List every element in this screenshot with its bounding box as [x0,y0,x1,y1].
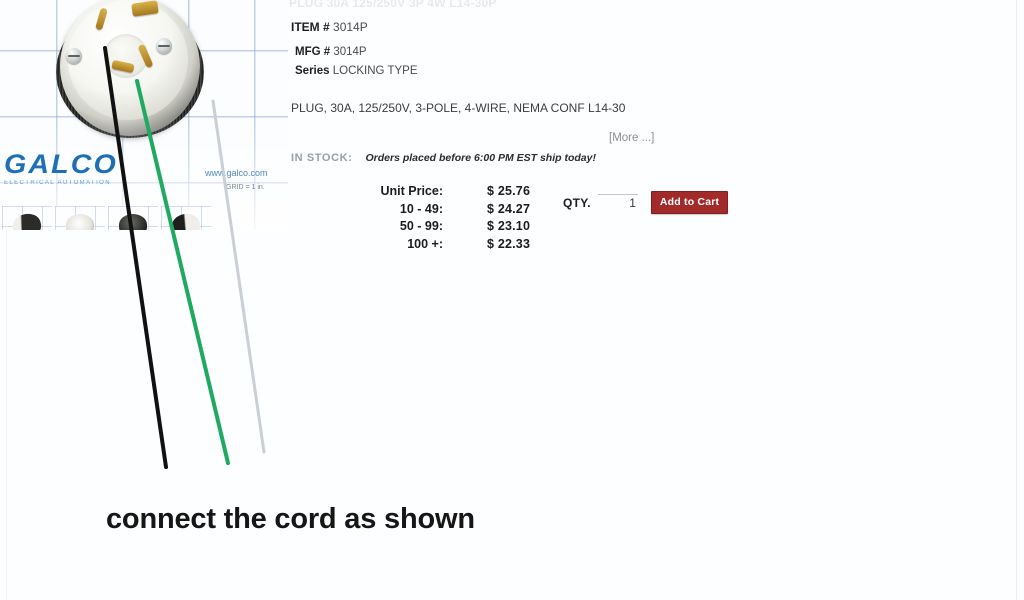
page-right-border [1016,0,1017,600]
product-photo: 30A 125/250V GALCO ELECTRICAL AUTOMATION… [0,0,288,230]
series-value: LOCKING TYPE [333,65,418,77]
add-to-cart-button[interactable]: Add to Cart [651,191,728,214]
mfg-number-row: MFG # 3014P [295,46,367,58]
item-number-label: ITEM # [291,20,330,34]
item-number-value: 3014P [333,20,368,34]
order-controls: QTY. Add to Cart [563,191,728,214]
galco-logo-wordmark: GALCO [4,151,118,178]
galco-logo: GALCO ELECTRICAL AUTOMATION [4,151,112,186]
series-row: Series LOCKING TYPE [295,65,418,77]
price-tier-label: 100 +: [335,236,443,254]
price-tier-label: 50 - 99: [335,218,443,236]
price-tier-amount: $ 24.27 [443,201,530,219]
thumbnail-plug-icon [119,214,147,230]
item-number-row: ITEM # 3014P [291,20,368,34]
mfg-number-label: MFG # [295,46,330,58]
price-tier-amount: $ 23.10 [443,218,530,236]
price-tier-label: Unit Price: [335,183,443,201]
plug-screw-icon [66,48,82,64]
stock-status-badge: IN STOCK: [291,152,352,164]
thumbnail-angle-2[interactable]: L14-30P1.0 in [55,206,105,230]
thumbnail-angle-3[interactable]: L14-30P1.0 in [108,206,158,230]
thumbnail-angle-4[interactable]: L14-30P1.0 in [161,206,211,230]
stock-status-row: IN STOCK: Orders placed before 6:00 PM E… [291,152,596,164]
thumbnail-strip[interactable]: L14-30P1.0 in L14-30P1.0 in L14-30P1.0 i… [2,206,212,230]
stock-ship-message: Orders placed before 6:00 PM EST ship to… [365,152,595,164]
price-tier-row: 50 - 99:$ 23.10 [335,218,530,236]
quantity-label: QTY. [563,196,591,210]
galco-website-text: www.galco.com [205,168,268,178]
thumbnail-angle-1[interactable]: L14-30P1.0 in [2,206,52,230]
quantity-input[interactable] [598,194,638,211]
plug-screw-icon [156,38,172,54]
page-bottom-area [7,548,1016,600]
series-label: Series [295,65,330,77]
grid-scale-note: GRID = 1 in. [226,184,265,191]
price-tier-row: 10 - 49:$ 24.27 [335,201,530,219]
price-tier-row: 100 +:$ 22.33 [335,236,530,254]
faded-page-title: PLUG 30A 125/250V 3P 4W L14-30P [289,0,497,10]
thumbnail-plug-icon [66,214,94,230]
mfg-number-value: 3014P [333,46,366,58]
more-link[interactable]: [More ...] [609,132,654,144]
price-tier-row: Unit Price:$ 25.76 [335,183,530,201]
price-tier-label: 10 - 49: [335,201,443,219]
product-description: PLUG, 30A, 125/250V, 3-POLE, 4-WIRE, NEM… [291,101,625,115]
instruction-caption: connect the cord as shown [106,503,475,536]
price-tier-table: Unit Price:$ 25.7610 - 49:$ 24.2750 - 99… [335,183,530,253]
price-tier-amount: $ 22.33 [443,236,530,254]
galco-logo-tagline: ELECTRICAL AUTOMATION [4,180,112,186]
price-tier-amount: $ 25.76 [443,183,530,201]
